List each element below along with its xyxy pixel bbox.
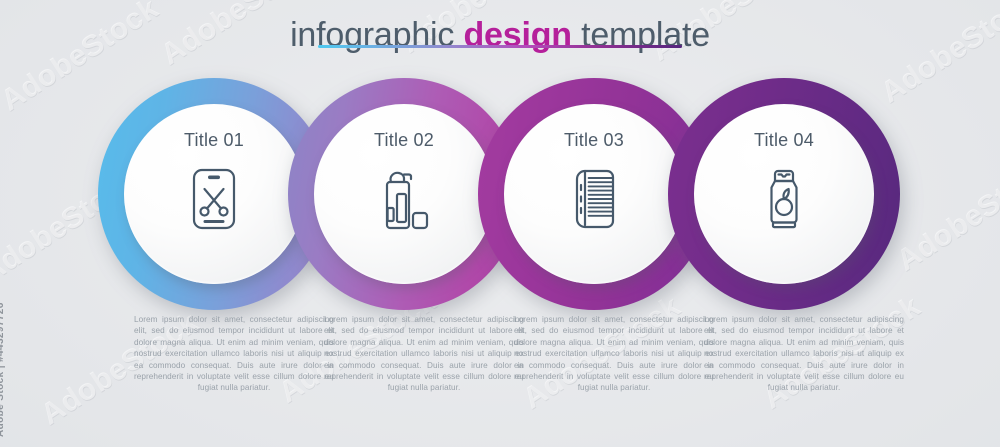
shampoo-bottle-icon xyxy=(754,162,814,236)
step-disc-1[interactable]: Title 01 xyxy=(124,104,304,284)
step-title-3: Title 03 xyxy=(564,130,624,150)
step-disc-3[interactable]: Title 03 xyxy=(504,104,684,284)
step-description-4: Lorem ipsum dolor sit amet, consectetur … xyxy=(704,314,904,394)
header-underline-rule xyxy=(318,45,682,48)
step-title-2: Title 02 xyxy=(374,130,434,150)
steps-row: Title 01 Title 02 xyxy=(0,78,1000,310)
page-title: infographic design template xyxy=(0,16,1000,54)
page-header: infographic design template xyxy=(0,16,1000,54)
infographic-canvas: AdobeStock AdobeStock AdobeStock AdobeSt… xyxy=(0,0,1000,447)
phone-scissors-icon xyxy=(184,162,244,236)
spray-can-icon xyxy=(374,162,434,236)
step-title-4: Title 04 xyxy=(754,130,814,150)
page-title-part1: infographic xyxy=(290,16,454,54)
hair-comb-icon xyxy=(564,162,624,236)
stock-credit-label: Adobe Stock | #443297726 xyxy=(0,302,6,437)
step-disc-2[interactable]: Title 02 xyxy=(314,104,494,284)
step-title-1: Title 01 xyxy=(184,130,244,150)
step-disc-4[interactable]: Title 04 xyxy=(694,104,874,284)
descriptions-row: Lorem ipsum dolor sit amet, consectetur … xyxy=(0,314,1000,424)
step-description-3: Lorem ipsum dolor sit amet, consectetur … xyxy=(514,314,714,394)
step-description-1: Lorem ipsum dolor sit amet, consectetur … xyxy=(134,314,334,394)
step-description-2: Lorem ipsum dolor sit amet, consectetur … xyxy=(324,314,524,394)
page-title-accent: design xyxy=(463,16,571,54)
step-item-4[interactable]: Title 04 xyxy=(668,78,900,310)
page-title-part2: template xyxy=(581,16,710,54)
